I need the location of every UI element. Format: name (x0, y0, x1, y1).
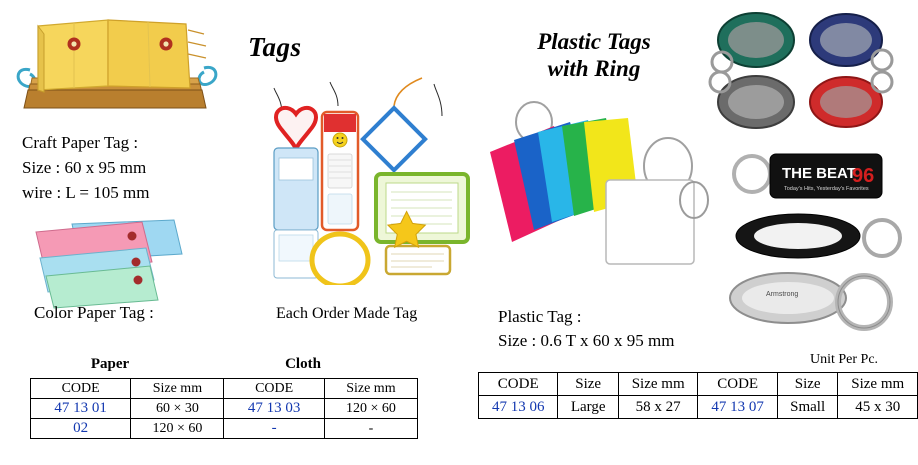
table-header-row: CODE Size Size mm CODE Size Size mm (479, 373, 918, 396)
svg-text:Today's Hits, Yesterday's Favo: Today's Hits, Yesterday's Favorites (784, 186, 869, 192)
table-header-row: CODE Size mm CODE Size mm (31, 379, 418, 399)
color-paper-tag-label: Color Paper Tag : (34, 303, 154, 322)
cell-code-small: 47 13 07 (698, 396, 777, 419)
cell-code-cloth-2: - (224, 419, 324, 439)
left-table-group-header-paper: Paper (30, 356, 190, 373)
col-sizemm-large: Size mm (618, 373, 698, 396)
key-rings-image: THE BEAT 96 Today's Hits, Yesterday's Fa… (706, 6, 912, 336)
unit-per-pc-text: Unit Per Pc. (810, 352, 878, 367)
craft-spec-line-3: wire : L = 105 mm (22, 180, 242, 205)
craft-spec-line-1: Craft Paper Tag : (22, 130, 242, 155)
cell-size-small: Small (777, 396, 838, 419)
plastic-title-line-2: with Ring (478, 55, 710, 82)
craft-paper-tag-image (8, 8, 223, 123)
cell-sizemm-small: 45 x 30 (838, 396, 918, 419)
plastic-tags-image (478, 90, 710, 295)
right-table-wrap: CODE Size Size mm CODE Size Size mm 47 1… (478, 372, 918, 419)
cell-size-large: Large (558, 396, 618, 419)
table-row: 02 120 × 60 - - (31, 419, 418, 439)
cell-code-large: 47 13 06 (479, 396, 558, 419)
col-size-paper: Size mm (131, 379, 224, 399)
cell-size-cloth-1: 120 × 60 (324, 399, 417, 419)
left-table-group-header-cloth: Cloth (238, 356, 368, 373)
svg-text:96: 96 (852, 165, 874, 187)
each-order-caption-text: Each Order Made Tag (276, 305, 417, 322)
craft-paper-tag-spec: Craft Paper Tag : Size : 60 x 95 mm wire… (22, 130, 242, 205)
col-code-cloth: CODE (224, 379, 324, 399)
svg-text:THE BEAT: THE BEAT (782, 165, 856, 182)
plastic-title-line-1: Plastic Tags (478, 28, 710, 55)
svg-text:Armstrong: Armstrong (766, 291, 798, 298)
unit-per-pc-label: Unit Per Pc. (810, 352, 878, 368)
tags-title: Tags (248, 32, 302, 63)
cell-size-paper-1: 60 × 30 (131, 399, 224, 419)
paper-group-label: Paper (91, 356, 129, 372)
table-row: 47 13 01 60 × 30 47 13 03 120 × 60 (31, 399, 418, 419)
assorted-tags-image (246, 70, 476, 285)
each-order-made-tag-caption: Each Order Made Tag (276, 305, 417, 323)
tags-title-text: Tags (248, 32, 302, 62)
cloth-group-label: Cloth (285, 356, 321, 372)
col-code-large: CODE (479, 373, 558, 396)
color-paper-tag-image (24, 218, 204, 310)
table-row: 47 13 06 Large 58 x 27 47 13 07 Small 45… (479, 396, 918, 419)
cell-code-paper-2: 02 (31, 419, 131, 439)
col-sizemm-small: Size mm (838, 373, 918, 396)
col-code-paper: CODE (31, 379, 131, 399)
left-table-wrap: CODE Size mm CODE Size mm 47 13 01 60 × … (30, 378, 418, 439)
cell-code-paper-1: 47 13 01 (31, 399, 131, 419)
cell-sizemm-large: 58 x 27 (618, 396, 698, 419)
craft-spec-line-2: Size : 60 x 95 mm (22, 155, 242, 180)
col-size-small: Size (777, 373, 838, 396)
col-size-cloth: Size mm (324, 379, 417, 399)
cell-code-cloth-1: 47 13 03 (224, 399, 324, 419)
plastic-tags-title: Plastic Tags with Ring (478, 28, 710, 82)
plastic-tag-table: CODE Size Size mm CODE Size Size mm 47 1… (478, 372, 918, 419)
catalog-page: Craft Paper Tag : Size : 60 x 95 mm wire… (0, 0, 918, 465)
paper-cloth-table: CODE Size mm CODE Size mm 47 13 01 60 × … (30, 378, 418, 439)
col-size-large: Size (558, 373, 618, 396)
col-code-small: CODE (698, 373, 777, 396)
color-paper-tag-spec: Color Paper Tag : (34, 302, 154, 324)
cell-size-cloth-2: - (324, 419, 417, 439)
cell-size-paper-2: 120 × 60 (131, 419, 224, 439)
